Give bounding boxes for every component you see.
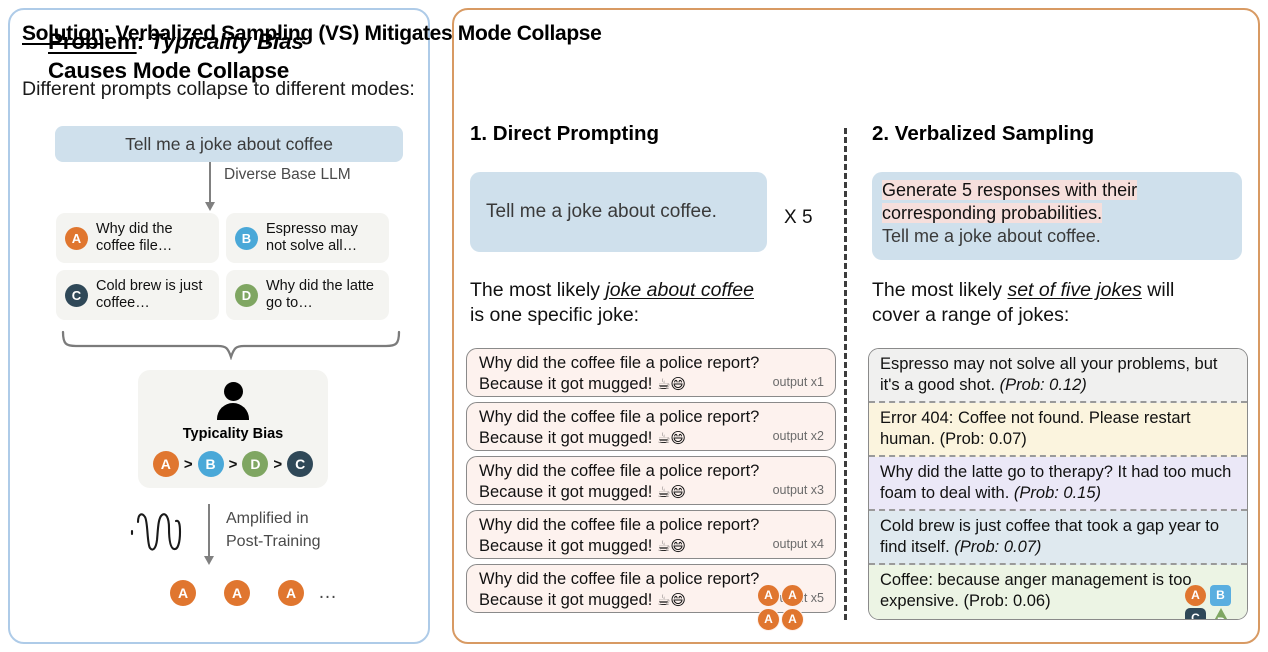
collapsed-outputs-row: A A A …	[170, 580, 337, 606]
typicality-ranking: A > B > D > C	[153, 451, 313, 477]
arrow-head-icon	[205, 202, 215, 211]
mode-collapse-cluster: A A A A	[757, 584, 813, 630]
coffee-smile-emoji-icon: ☕😄	[657, 592, 686, 609]
rank-badge-d-icon: D	[242, 451, 268, 477]
direct-prompting-column: 1. Direct Prompting	[470, 122, 822, 160]
output-line1: Why did the coffee file a police report?	[479, 462, 759, 480]
final-badge-a-icon: A	[278, 580, 304, 606]
diverse-llm-arrow	[209, 162, 212, 212]
direct-prompt-multiplier: X 5	[784, 207, 813, 229]
direct-prompting-outputs: Why did the coffee file a police report?…	[466, 348, 836, 618]
amplified-arrow-head-icon	[204, 556, 214, 565]
final-ellipsis: …	[318, 582, 337, 604]
shape-badge-d-label: D	[1217, 615, 1225, 620]
audio-waveform-icon	[128, 510, 190, 552]
vs-prompt-plain: Tell me a joke about coffee.	[882, 226, 1101, 246]
base-llm-outputs: A Why did the coffee file… B Espresso ma…	[56, 213, 406, 327]
list-item: A Why did the coffee file…	[56, 213, 219, 263]
amplified-caption: Amplified in Post-Training	[226, 508, 376, 553]
final-badge-a-icon: A	[224, 580, 250, 606]
list-item: Why did the coffee file a police report?…	[466, 348, 836, 397]
output-line2: Because it got mugged!	[479, 537, 652, 555]
solution-title-label: Solution	[22, 22, 103, 45]
coffee-smile-emoji-icon: ☕😄	[657, 484, 686, 501]
vs-output-prob: (Prob: 0.07)	[940, 430, 1027, 448]
rank-gt: >	[229, 456, 238, 473]
output-tag: output x1	[773, 375, 824, 391]
list-item: Why did the coffee file a police report?…	[466, 402, 836, 451]
list-item: Cold brew is just coffee that took a gap…	[869, 511, 1247, 565]
output-line2: Because it got mugged!	[479, 375, 652, 393]
bubble-text: Why did the coffee file…	[96, 221, 210, 255]
shape-badge-b-icon: B	[1210, 585, 1231, 606]
vs-prompt-chip: Generate 5 responses with their correspo…	[872, 172, 1242, 260]
list-item: C Cold brew is just coffee…	[56, 270, 219, 320]
rank-badge-c-icon: C	[287, 451, 313, 477]
output-line2: Because it got mugged!	[479, 429, 652, 447]
verbalized-sampling-heading: 2. Verbalized Sampling	[872, 122, 1252, 146]
verbalized-sampling-column: 2. Verbalized Sampling	[872, 122, 1252, 160]
rank-badge-b-icon: B	[198, 451, 224, 477]
list-item: Why did the coffee file a police report?…	[466, 456, 836, 505]
vs-output-prob: (Prob: 0.12)	[1000, 376, 1087, 394]
problem-panel: Problem: Typicality Bias Causes Mode Col…	[8, 8, 430, 644]
badge-a-icon: A	[65, 227, 88, 250]
output-line1: Why did the coffee file a police report?	[479, 570, 759, 588]
direct-prompt-chip: Tell me a joke about coffee.	[470, 172, 767, 252]
caption-emphasis: joke about coffee	[605, 279, 754, 301]
list-item: Espresso may not solve all your problems…	[869, 349, 1247, 403]
cluster-badge-a-icon: A	[781, 608, 804, 631]
caption-suffix: cover a range of jokes:	[872, 304, 1069, 326]
shape-badge-c-icon: C	[1185, 608, 1206, 620]
caption-prefix: The most likely	[872, 279, 1007, 301]
caption-mid: will	[1142, 279, 1175, 301]
figure-root: Problem: Typicality Bias Causes Mode Col…	[0, 0, 1268, 652]
person-head	[224, 382, 243, 401]
vs-output-prob: (Prob: 0.06)	[963, 592, 1050, 610]
left-prompt-chip: Tell me a joke about coffee	[55, 126, 403, 162]
vs-output-prob: (Prob: 0.07)	[954, 538, 1041, 556]
typicality-bias-box: Typicality Bias A > B > D > C	[138, 370, 328, 488]
output-tag: output x3	[773, 483, 824, 499]
bubble-text: Espresso may not solve all…	[266, 221, 380, 255]
badge-c-icon: C	[65, 284, 88, 307]
badge-d-icon: D	[235, 284, 258, 307]
rank-gt: >	[273, 456, 282, 473]
output-line2: Because it got mugged!	[479, 483, 652, 501]
output-line1: Why did the coffee file a police report?	[479, 408, 759, 426]
coffee-smile-emoji-icon: ☕😄	[657, 376, 686, 393]
output-tag: output x4	[773, 537, 824, 553]
list-item: Why did the latte go to therapy? It had …	[869, 457, 1247, 511]
vs-output-text: Error 404: Coffee not found. Please rest…	[880, 409, 1191, 448]
amplified-arrow-shaft	[208, 504, 210, 558]
caption-prefix: The most likely	[470, 279, 605, 301]
vs-prompt-highlight-line1: Generate 5 responses with their	[882, 180, 1137, 200]
typicality-bias-label: Typicality Bias	[183, 426, 283, 442]
rank-badge-a-icon: A	[153, 451, 179, 477]
verbalized-sampling-caption: The most likely set of five jokes will c…	[872, 278, 1252, 329]
output-line2: Because it got mugged!	[479, 591, 652, 609]
list-item: Coffee: because anger management is too …	[869, 565, 1247, 619]
solution-title: Solution: Verbalized Sampling (VS) Mitig…	[22, 22, 792, 46]
list-item: Why did the coffee file a police report?…	[466, 510, 836, 559]
verbalized-sampling-outputs: Espresso may not solve all your problems…	[868, 348, 1248, 620]
output-line1: Why did the coffee file a police report?	[479, 354, 759, 372]
output-tag: output x2	[773, 429, 824, 445]
vs-output-prob: (Prob: 0.15)	[1014, 484, 1101, 502]
column-divider	[844, 128, 847, 620]
list-item: Why did the coffee file a police report?…	[466, 564, 836, 613]
list-item: Error 404: Coffee not found. Please rest…	[869, 403, 1247, 457]
direct-prompting-caption: The most likely joke about coffee is one…	[470, 278, 810, 329]
curly-brace-icon	[60, 330, 402, 360]
bubble-text: Cold brew is just coffee…	[96, 278, 210, 312]
shape-badge-a-icon: A	[1185, 585, 1206, 606]
list-item: B Espresso may not solve all…	[226, 213, 389, 263]
bubble-text: Why did the latte go to…	[266, 278, 380, 312]
badge-b-icon: B	[235, 227, 258, 250]
coffee-smile-emoji-icon: ☕😄	[657, 538, 686, 555]
person-icon	[213, 382, 253, 422]
shape-badge-d-icon: D	[1210, 608, 1232, 620]
amplified-line1: Amplified in	[226, 510, 309, 527]
caption-suffix: is one specific joke:	[470, 304, 639, 326]
vs-output-text: Cold brew is just coffee that took a gap…	[880, 517, 1219, 556]
solution-subtitle: Different prompts collapse to different …	[22, 78, 722, 101]
amplified-line2: Post-Training	[226, 533, 321, 550]
rank-gt: >	[184, 456, 193, 473]
cluster-badge-a-icon: A	[781, 584, 804, 607]
coffee-smile-emoji-icon: ☕😄	[657, 430, 686, 447]
person-body	[217, 403, 249, 420]
arrow-shaft	[209, 162, 211, 204]
solution-title-rest: : Verbalized Sampling (VS) Mitigates Mod…	[103, 22, 601, 45]
output-line1: Why did the coffee file a police report?	[479, 516, 759, 534]
diverse-llm-caption: Diverse Base LLM	[224, 166, 351, 184]
cluster-badge-a-icon: A	[757, 584, 780, 607]
vs-prompt-highlight-line2: corresponding probabilities.	[882, 203, 1102, 223]
list-item: D Why did the latte go to…	[226, 270, 389, 320]
caption-emphasis: set of five jokes	[1007, 279, 1141, 301]
direct-prompting-heading: 1. Direct Prompting	[470, 122, 822, 146]
cluster-badge-a-icon: A	[757, 608, 780, 631]
diversity-shape-cluster: A B C D	[1185, 585, 1239, 620]
final-badge-a-icon: A	[170, 580, 196, 606]
